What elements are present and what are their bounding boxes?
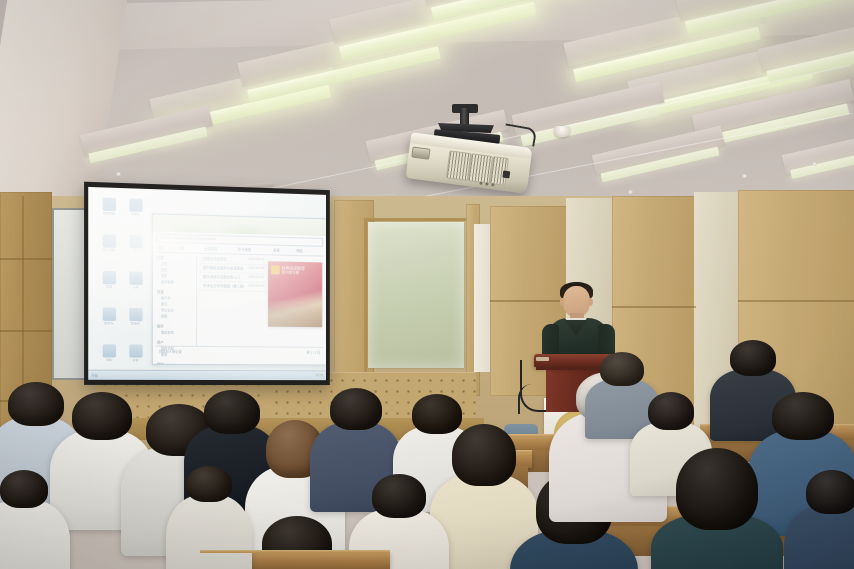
projector-mount-pole <box>460 108 469 126</box>
projector-lens-icon <box>411 147 430 160</box>
start-button[interactable]: 开始 <box>91 373 98 378</box>
tab-browse[interactable]: 分类浏览 <box>204 246 217 251</box>
podium-nameplate <box>536 357 549 361</box>
settings-icon <box>129 344 142 357</box>
ceiling-downlight-icon <box>812 162 817 166</box>
result-date: 2014-05-12 <box>248 257 264 261</box>
desktop-icon[interactable]: 设置 <box>123 344 147 362</box>
result-title: 学术论文写作指南（第二版） <box>203 283 247 289</box>
database-icon <box>129 308 142 321</box>
desktop-icon[interactable]: 图书馆 <box>96 307 121 325</box>
projector-led-icon <box>491 183 494 186</box>
attendee-hair <box>730 340 776 376</box>
installer-icon <box>102 344 115 357</box>
address-bar-value: http://lib.example.edu.cn/opac/search <box>160 236 216 241</box>
result-row[interactable]: 数字阅读与文献检索入门 2014-04-10 <box>199 274 266 283</box>
desk-edge <box>200 550 390 553</box>
result-row[interactable]: 中国近代史研究 2014-05-12 <box>199 256 266 265</box>
desktop-icon[interactable]: 工具 <box>123 271 147 289</box>
result-count: 共找到 4 条记录 <box>159 349 182 354</box>
sidebar-item-history[interactable]: 历史 <box>161 267 167 272</box>
sidebar-item-ebooks[interactable]: 电子书 <box>161 295 171 300</box>
window-sidebar[interactable]: 分类 文学 历史 哲学 经济管理 资源 电子书 期刊 学位论文 视频 服务 借阅… <box>156 255 197 346</box>
attendee-hair <box>600 352 644 386</box>
attendee-hair <box>772 392 834 440</box>
library-icon <box>102 308 115 321</box>
ceiling-downlight-icon <box>742 174 747 178</box>
desktop-icon[interactable]: 我的电脑 <box>96 197 121 216</box>
attendee-hair <box>806 470 854 514</box>
desktop-icon[interactable]: 网上邻居 <box>96 234 121 252</box>
sidebar-group-services: 服务 <box>157 323 164 328</box>
projector-led-icon <box>485 182 488 185</box>
projector-led-icon <box>479 182 482 185</box>
result-row[interactable]: 图书馆信息服务与资源建设 2014-04-28 <box>199 265 266 274</box>
book-cover-photo <box>268 301 322 327</box>
attendee-hair <box>676 448 758 530</box>
page-indicator: 第 1 / 1 页 <box>306 350 320 355</box>
sidebar-item-philosophy[interactable]: 哲学 <box>161 273 167 278</box>
result-date: 2014-04-10 <box>248 275 264 279</box>
taskbar-clock: 10:26 <box>315 373 323 377</box>
wall-seam <box>612 306 696 308</box>
wall-seam <box>0 258 52 260</box>
sidebar-group-resources: 资源 <box>157 289 164 294</box>
smoke-detector-icon <box>554 126 570 137</box>
wall-seam <box>0 330 52 332</box>
recycle-bin-icon <box>129 198 142 212</box>
presenter <box>538 282 624 362</box>
taskbar[interactable]: 开始 10:26 <box>88 370 326 381</box>
sidebar-item-video[interactable]: 视频 <box>161 313 167 318</box>
desktop-icon[interactable]: 安装 <box>96 344 121 362</box>
result-title: 图书馆信息服务与资源建设 <box>203 265 243 271</box>
sidebar-item-literature[interactable]: 文学 <box>161 261 167 266</box>
result-title: 数字阅读与文献检索入门 <box>203 274 240 280</box>
ceiling-downlight-icon <box>628 190 633 194</box>
book-cover-thumbnail[interactable]: 经典阅读推荐 图书馆专题 <box>268 261 322 327</box>
site-banner <box>153 214 326 236</box>
desktop-icon[interactable]: IE <box>123 235 147 253</box>
desktop-icon-column: 我的电脑 回收站 网上邻居 IE 文档 工具 图书馆 数据库 安装 设置 <box>94 195 151 379</box>
sidebar-item-economics[interactable]: 经济管理 <box>161 279 174 284</box>
sidebar-group-category: 分类 <box>157 255 164 260</box>
projected-application-window[interactable]: http://lib.example.edu.cn/opac/search 首页… <box>152 213 326 365</box>
desktop-icon[interactable]: 数据库 <box>123 308 147 326</box>
result-date: 2014-04-28 <box>248 266 264 270</box>
sidebar-group-user: 用户 <box>157 340 164 345</box>
sidebar-item-theses[interactable]: 学位论文 <box>161 307 174 312</box>
podium-cable <box>518 384 540 414</box>
my-computer-icon <box>102 198 115 212</box>
attendee-hair <box>452 424 516 486</box>
tab-home[interactable]: 首页 <box>158 245 165 250</box>
sidebar-item-journals[interactable]: 期刊 <box>161 301 167 306</box>
tab-help[interactable]: 帮助 <box>296 248 303 253</box>
attendee-hair <box>72 392 132 440</box>
wall-seam <box>738 300 854 302</box>
ceiling-downlight-icon <box>116 172 121 176</box>
attendee-hair <box>0 470 48 508</box>
result-row[interactable]: 学术论文写作指南（第二版） 2014-03-30 <box>199 283 266 292</box>
network-icon <box>102 234 115 248</box>
tab-newbooks[interactable]: 新书通报 <box>238 247 251 252</box>
attendee-hair <box>8 382 64 426</box>
browser-icon <box>129 235 142 248</box>
tab-search[interactable]: 检索 <box>178 245 185 250</box>
result-title: 中国近代史研究 <box>203 256 227 262</box>
sidebar-item-loans[interactable]: 借阅查询 <box>161 330 174 335</box>
attendee-hair <box>372 474 426 518</box>
result-list: 中国近代史研究 2014-05-12 图书馆信息服务与资源建设 2014-04-… <box>199 256 266 305</box>
tools-folder-icon <box>129 271 142 284</box>
tab-resources[interactable]: 资源 <box>273 248 280 253</box>
sidebar-group-help: 帮助 <box>157 362 164 366</box>
presenter-ear <box>588 298 593 306</box>
attendee-hair <box>186 466 232 502</box>
ceiling-mounted-projector <box>408 108 538 188</box>
window-footer: 共找到 4 条记录 第 1 / 1 页 <box>156 346 323 363</box>
book-title-line2: 图书馆专题 <box>282 270 299 275</box>
projection-screen[interactable]: 我的电脑 回收站 网上邻居 IE 文档 工具 图书馆 数据库 安装 设置 htt… <box>84 182 330 385</box>
attendee-torso <box>166 495 252 569</box>
attendee-hair <box>204 390 260 434</box>
attendee-hair <box>330 388 382 430</box>
frosted-glass-panel <box>368 222 464 368</box>
projector-cable <box>503 123 538 146</box>
result-date: 2014-03-30 <box>248 284 264 288</box>
presenter-ear <box>560 298 565 306</box>
book-badge-icon <box>271 265 280 274</box>
attendee-hair <box>648 392 694 430</box>
documents-folder-icon <box>102 271 115 284</box>
attendee-hair <box>412 394 462 434</box>
projector-port <box>502 171 510 179</box>
desktop-icon[interactable]: 文档 <box>96 271 121 289</box>
projection-screen-surface: 我的电脑 回收站 网上邻居 IE 文档 工具 图书馆 数据库 安装 设置 htt… <box>88 187 326 380</box>
desktop-icon[interactable]: 回收站 <box>123 198 147 217</box>
lecture-hall-photo: 我的电脑 回收站 网上邻居 IE 文档 工具 图书馆 数据库 安装 设置 htt… <box>0 0 854 569</box>
